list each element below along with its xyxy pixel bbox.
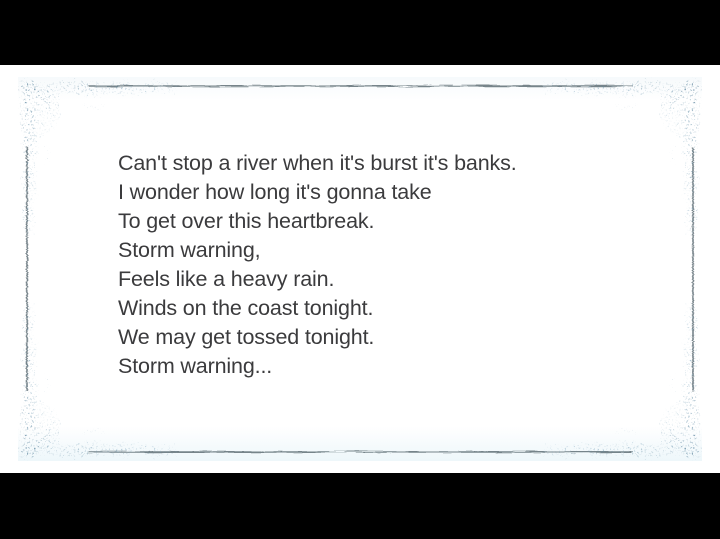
lyric-line: Storm warning, xyxy=(118,236,638,265)
lyric-line: Winds on the coast tonight. xyxy=(118,294,638,323)
lyric-line: Can't stop a river when it's burst it's … xyxy=(118,149,638,178)
lyric-line: To get over this heartbreak. xyxy=(118,207,638,236)
screenshot-viewport: Can't stop a river when it's burst it's … xyxy=(0,0,720,539)
lyric-line: We may get tossed tonight. xyxy=(118,323,638,352)
lyric-line: Storm warning... xyxy=(118,352,638,381)
lyric-line: I wonder how long it's gonna take xyxy=(118,178,638,207)
lyric-line: Feels like a heavy rain. xyxy=(118,265,638,294)
letterbox-bar-bottom xyxy=(0,473,720,539)
lyrics-page: Can't stop a river when it's burst it's … xyxy=(0,65,720,473)
decorative-lyrics-card: Can't stop a river when it's burst it's … xyxy=(18,77,702,461)
lyrics-text-block: Can't stop a river when it's burst it's … xyxy=(118,149,638,381)
letterbox-bar-top xyxy=(0,0,720,65)
